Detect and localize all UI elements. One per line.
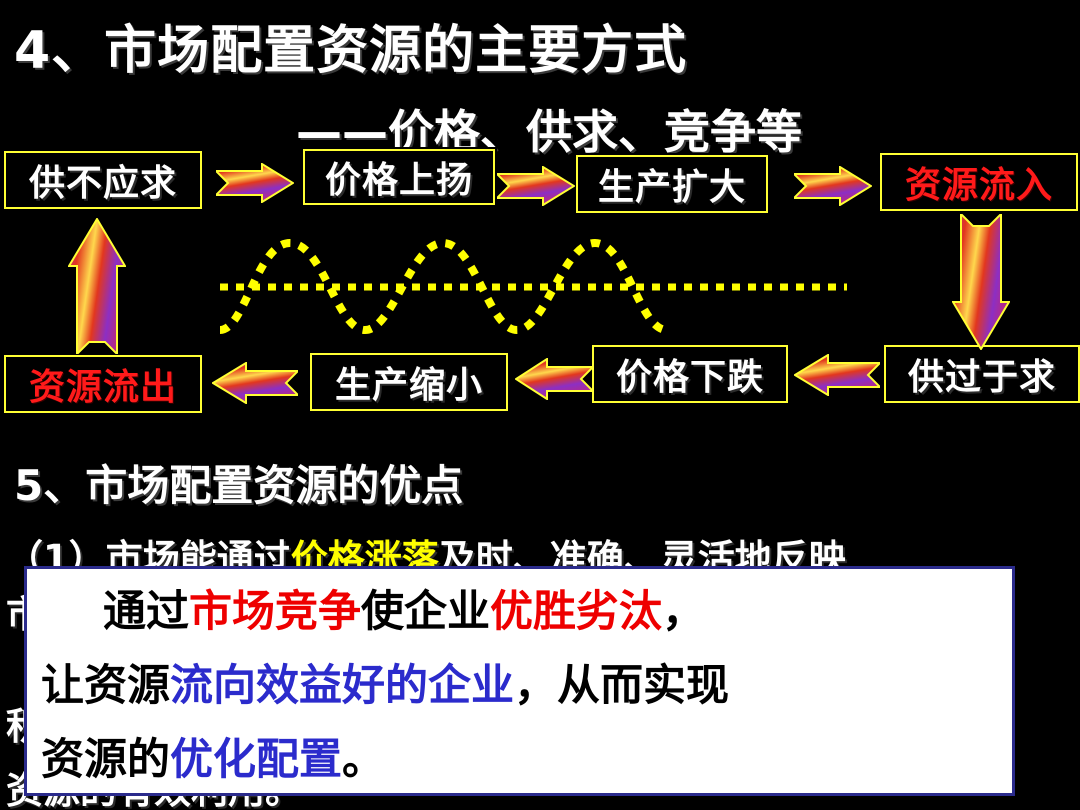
callout-seg: 使企业: [361, 587, 490, 637]
callout-seg-highlight: 流向效益好的企业: [170, 661, 514, 711]
flow-box-price-drop: 价格下跌: [592, 345, 788, 403]
slide-canvas: 4、市场配置资源的主要方式 ——价格、供求、竞争等 供不应求 价格上扬 生产扩大…: [0, 0, 1080, 810]
flow-box-label: 供过于求: [908, 348, 1056, 400]
callout-seg-highlight: 市场竞争: [189, 587, 361, 637]
flow-box-label: 资源流入: [905, 156, 1053, 208]
flow-box-supply-shortage: 供不应求: [4, 151, 202, 209]
flow-box-label: 价格下跌: [616, 348, 764, 400]
arrow-inflow-to-oversupply: [952, 214, 1010, 350]
callout-seg: ，从而实现: [514, 661, 729, 711]
arrow-price-to-production: [497, 166, 575, 206]
flow-box-oversupply: 供过于求: [884, 345, 1080, 403]
overlay-textbox: 通过市场竞争使企业优胜劣汰， 让资源流向效益好的企业，从而实现 资源的优化配置。: [24, 566, 1015, 796]
price-fluctuation-wave: [215, 225, 855, 349]
callout-seg: 资源的: [41, 735, 170, 785]
callout-seg: 。: [342, 735, 385, 785]
callout-seg-highlight: 优化配置: [170, 735, 342, 785]
callout-line-3: 资源的优化配置。: [41, 723, 998, 797]
flow-box-label: 供不应求: [29, 154, 177, 206]
page-title: 4、市场配置资源的主要方式: [14, 8, 687, 83]
flow-box-label: 价格上扬: [325, 151, 473, 203]
flow-box-production-expand: 生产扩大: [576, 155, 768, 213]
flow-box-resource-outflow: 资源流出: [4, 355, 202, 413]
callout-line-2: 让资源流向效益好的企业，从而实现: [41, 649, 998, 723]
callout-seg: ，: [662, 587, 705, 637]
section-heading-5: 5、市场配置资源的优点: [14, 452, 463, 513]
flow-box-production-shrink: 生产缩小: [310, 353, 508, 411]
callout-seg: 让资源: [41, 661, 170, 711]
arrow-outflow-to-supply: [68, 218, 126, 354]
flow-box-price-rise: 价格上扬: [303, 149, 495, 205]
callout-line-1: 通过市场竞争使企业优胜劣汰，: [41, 575, 998, 649]
flow-box-label: 生产缩小: [335, 356, 483, 408]
arrow-pricedrop-to-shrink: [515, 358, 593, 400]
flow-box-resource-inflow: 资源流入: [880, 153, 1078, 211]
arrow-shrink-to-outflow: [212, 362, 298, 404]
callout-seg: 通过: [103, 587, 189, 637]
arrow-production-to-inflow: [794, 166, 872, 206]
flow-box-label: 资源流出: [29, 358, 177, 410]
arrow-supply-to-price: [216, 163, 294, 203]
arrow-oversupply-to-pricedrop: [794, 354, 880, 396]
callout-seg-highlight: 优胜劣汰: [490, 587, 662, 637]
flow-box-label: 生产扩大: [598, 158, 746, 210]
